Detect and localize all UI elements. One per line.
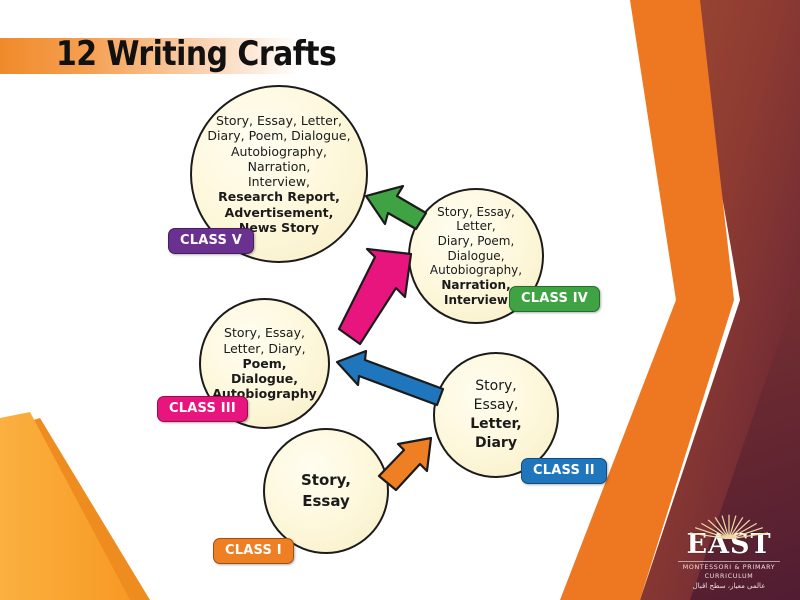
node-line: Research Report, bbox=[218, 189, 340, 204]
background-shape-maroon-right bbox=[640, 0, 800, 600]
node-circle-class1[interactable]: Story, Essay bbox=[263, 428, 389, 554]
arrow-class2-to-class3 bbox=[337, 351, 443, 405]
east-logo: EAST MONTESSORI & PRIMARY CURRICULUM عال… bbox=[672, 513, 786, 590]
node-line: Letter, Diary, bbox=[223, 341, 305, 356]
node-line: Poem, Dialogue, bbox=[231, 356, 298, 386]
node-line: Narration, bbox=[441, 278, 510, 292]
node-line: Interview, bbox=[248, 174, 310, 189]
logo-divider bbox=[678, 561, 780, 562]
background-shapes bbox=[0, 0, 800, 600]
page-title: 12 Writing Crafts bbox=[56, 34, 336, 74]
background-decoration bbox=[0, 0, 800, 600]
node-line: Story, bbox=[301, 471, 351, 489]
node-text-class3: Story, Essay, Letter, Diary, Poem, Dialo… bbox=[201, 325, 328, 401]
badge-class5[interactable]: CLASS V bbox=[168, 228, 254, 254]
node-line: Diary, Poem, Dialogue, bbox=[438, 234, 515, 263]
sunburst-rays bbox=[672, 513, 786, 539]
node-line: Story, Essay, bbox=[224, 325, 305, 340]
node-text-class2: Story, Essay, Letter, Diary bbox=[464, 377, 527, 453]
node-line: Story, bbox=[475, 378, 516, 394]
node-line: Autobiography, bbox=[430, 263, 522, 277]
node-line: Diary bbox=[475, 435, 517, 451]
background-shape-maroon-right-2 bbox=[690, 0, 800, 600]
node-line: Essay, bbox=[474, 397, 519, 413]
background-shape-orange-bottomleft bbox=[0, 412, 130, 600]
node-text-class1: Story, Essay bbox=[295, 470, 357, 512]
node-line: Story, Essay, Letter, bbox=[216, 113, 342, 128]
node-line: Diary, Poem, Dialogue, bbox=[207, 128, 350, 143]
node-line: Story, Essay, Letter, bbox=[437, 205, 515, 234]
node-line: Autobiography, Narration, bbox=[231, 144, 327, 174]
node-line: Essay bbox=[302, 492, 350, 510]
arrow-layer bbox=[0, 0, 800, 600]
node-line: Interview bbox=[444, 293, 508, 307]
logo-subtitle: MONTESSORI & PRIMARY CURRICULUM bbox=[672, 564, 786, 581]
badge-class2[interactable]: CLASS II bbox=[521, 458, 607, 484]
badge-class3[interactable]: CLASS III bbox=[157, 396, 248, 422]
node-text-class5: Story, Essay, Letter, Diary, Poem, Dialo… bbox=[192, 113, 366, 235]
arrow-class3-to-class4 bbox=[339, 249, 411, 344]
background-shape-orange-bottomleft-dark bbox=[0, 418, 150, 600]
logo-subtitle-line2: CURRICULUM bbox=[705, 573, 754, 580]
node-line: Advertisement, bbox=[225, 205, 334, 220]
badge-class4[interactable]: CLASS IV bbox=[509, 286, 600, 312]
logo-subtitle-arabic: عالمی معیار، سطح اقبال bbox=[672, 582, 786, 590]
badge-class1[interactable]: CLASS I bbox=[213, 538, 294, 564]
node-line: Letter, bbox=[470, 416, 521, 432]
sunburst-icon bbox=[672, 513, 786, 539]
slide-canvas: 12 Writing Crafts Story, Essay, Letter, … bbox=[0, 0, 800, 600]
logo-subtitle-line1: MONTESSORI & PRIMARY bbox=[683, 564, 776, 571]
